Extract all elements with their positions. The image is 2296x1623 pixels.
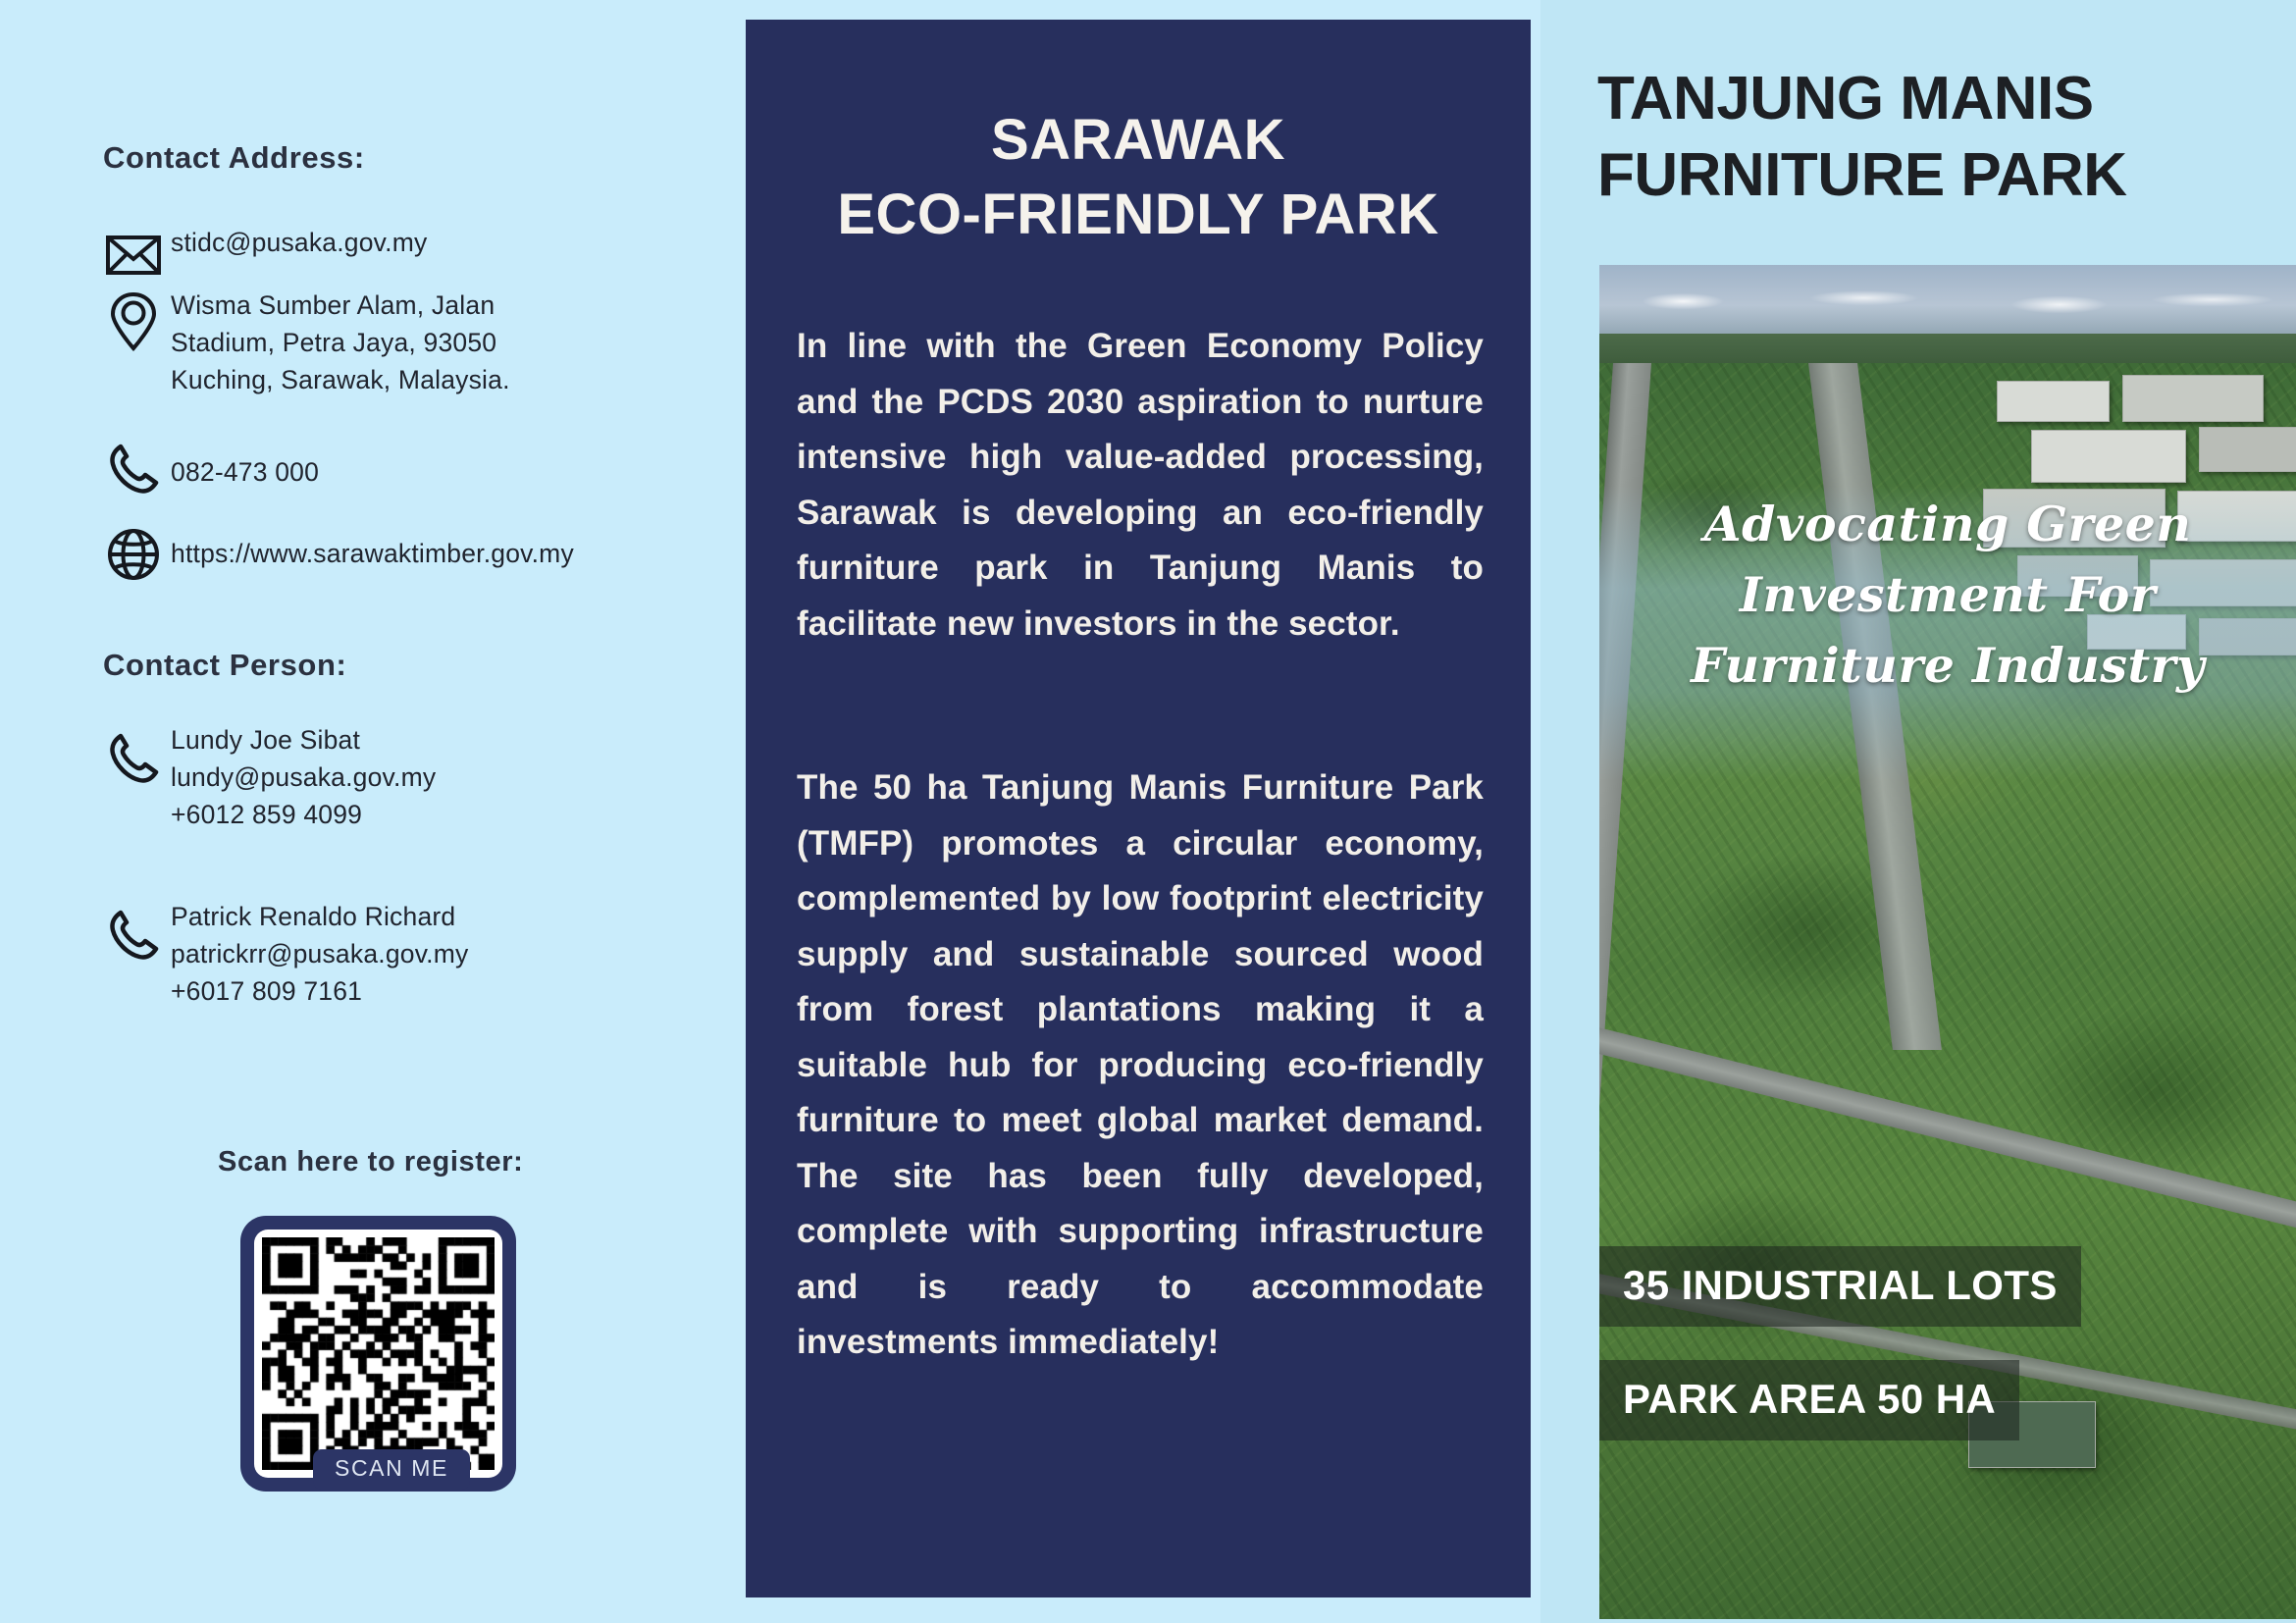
photo-building xyxy=(2122,375,2264,422)
contact-email-row[interactable]: stidc@pusaka.gov.my xyxy=(96,218,427,292)
phone-icon xyxy=(96,432,171,506)
contact-address-heading: Contact Address: xyxy=(103,140,365,176)
middle-navy-panel: SARAWAK ECO-FRIENDLY PARK In line with t… xyxy=(746,20,1531,1597)
person-2-name: Patrick Renaldo Richard xyxy=(171,898,468,935)
contact-phone-row[interactable]: 082-473 000 xyxy=(96,432,319,506)
contact-person-heading: Contact Person: xyxy=(103,648,346,683)
photo-building xyxy=(2199,427,2296,472)
person-1-phone: +6012 859 4099 xyxy=(171,796,436,833)
address-line-1: Wisma Sumber Alam, Jalan xyxy=(171,287,642,324)
middle-title-line-2: ECO-FRIENDLY PARK xyxy=(746,178,1531,252)
contact-person-1-row[interactable]: Lundy Joe Sibat lundy@pusaka.gov.my +601… xyxy=(96,721,436,833)
person-2-email: patrickrr@pusaka.gov.my xyxy=(171,935,468,972)
right-title-line-1: TANJUNG MANIS xyxy=(1597,65,2094,132)
envelope-icon xyxy=(96,218,171,292)
contact-website-value[interactable]: https://www.sarawaktimber.gov.my xyxy=(171,517,574,572)
middle-title-line-1: SARAWAK xyxy=(991,108,1285,172)
script-line-1: Advocating Green Investment For xyxy=(1704,496,2192,623)
contact-person-2-details: Patrick Renaldo Richard patrickrr@pusaka… xyxy=(171,898,468,1010)
contact-website-row[interactable]: https://www.sarawaktimber.gov.my xyxy=(96,517,574,592)
photo-sky xyxy=(1599,265,2296,339)
middle-paragraph-2: The 50 ha Tanjung Manis Furniture Park (… xyxy=(797,760,1484,1371)
person-1-name: Lundy Joe Sibat xyxy=(171,721,436,759)
contact-email-value: stidc@pusaka.gov.my xyxy=(171,218,427,261)
right-panel-title: TANJUNG MANIS FURNITURE PARK xyxy=(1597,61,2284,214)
qr-code-inner xyxy=(254,1230,502,1478)
middle-panel-title: SARAWAK ECO-FRIENDLY PARK xyxy=(746,103,1531,252)
contact-person-2-row[interactable]: Patrick Renaldo Richard patrickrr@pusaka… xyxy=(96,898,468,1010)
right-title-line-2: FURNITURE PARK xyxy=(1597,137,2284,214)
contact-phone-value: 082-473 000 xyxy=(171,432,319,491)
scan-me-badge: SCAN ME xyxy=(313,1449,470,1490)
brochure-page: Contact Address: stidc@pusaka.gov.my xyxy=(0,0,2296,1623)
photo-building xyxy=(2031,430,2186,483)
location-pin-icon xyxy=(96,285,171,359)
address-line-2: Stadium, Petra Jaya, 93050 xyxy=(171,324,642,361)
badge-industrial-lots: 35 INDUSTRIAL LOTS xyxy=(1599,1246,2081,1327)
script-line-2: Furniture Industry xyxy=(1599,630,2296,701)
contact-address-row: Wisma Sumber Alam, Jalan Stadium, Petra … xyxy=(96,285,642,398)
left-contact-panel: Contact Address: stidc@pusaka.gov.my xyxy=(0,0,746,1623)
person-1-email: lundy@pusaka.gov.my xyxy=(171,759,436,796)
middle-paragraph-1: In line with the Green Economy Policy an… xyxy=(797,319,1484,652)
right-image-panel: TANJUNG MANIS FURNITURE PARK xyxy=(1540,0,2296,1623)
phone-icon xyxy=(96,898,171,972)
phone-icon xyxy=(96,721,171,796)
person-2-phone: +6017 809 7161 xyxy=(171,972,468,1010)
contact-person-1-details: Lundy Joe Sibat lundy@pusaka.gov.my +601… xyxy=(171,721,436,833)
globe-icon xyxy=(96,517,171,592)
address-line-3: Kuching, Sarawak, Malaysia. xyxy=(171,361,642,398)
qr-code-matrix xyxy=(262,1237,495,1470)
contact-address-value: Wisma Sumber Alam, Jalan Stadium, Petra … xyxy=(171,285,642,398)
scan-here-heading: Scan here to register: xyxy=(218,1146,523,1178)
badge-park-area: PARK AREA 50 HA xyxy=(1599,1360,2019,1440)
photo-script-tagline: Advocating Green Investment For Furnitur… xyxy=(1599,489,2296,701)
aerial-photo: Advocating Green Investment For Furnitur… xyxy=(1599,265,2296,1619)
photo-building xyxy=(1997,381,2111,422)
